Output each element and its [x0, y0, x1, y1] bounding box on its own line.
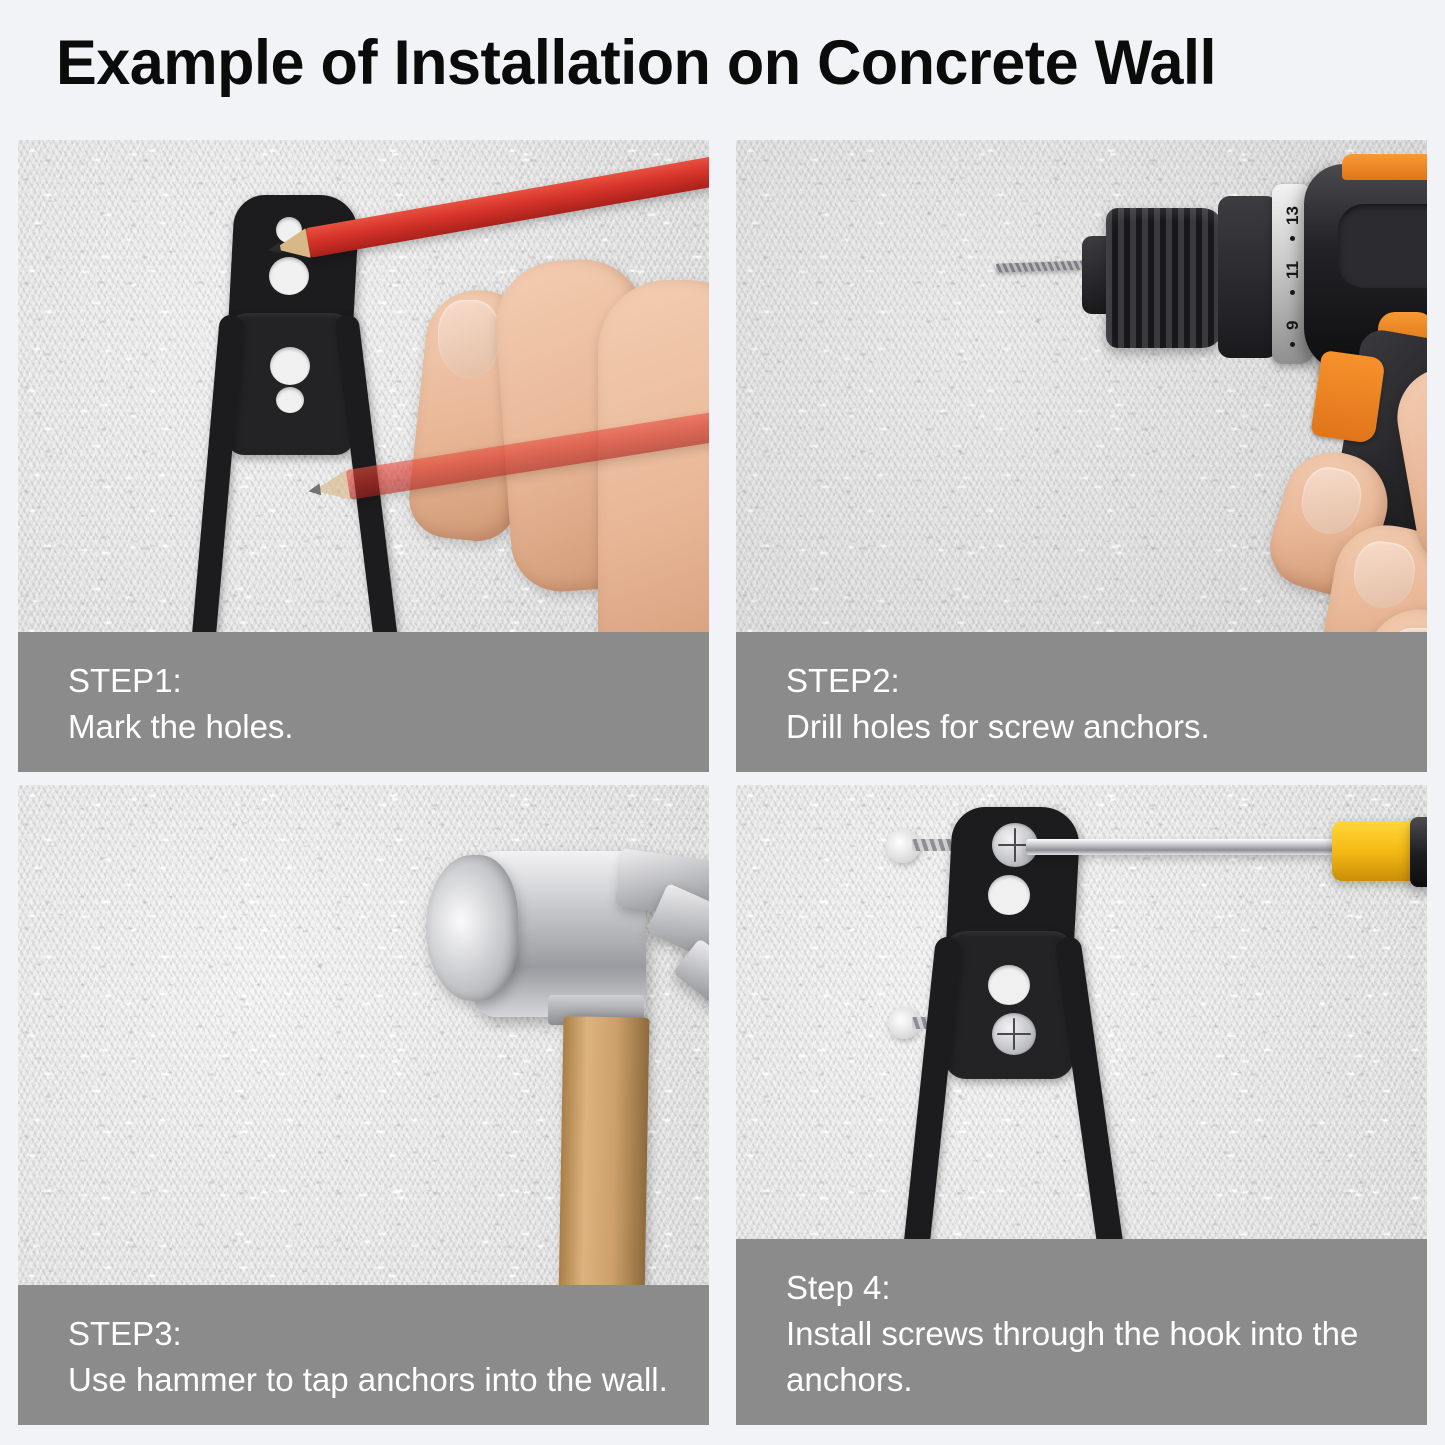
step-2-caption: STEP2: Drill holes for screw anchors. — [736, 632, 1427, 772]
screwdriver-yellow-grip — [1332, 821, 1418, 881]
installation-guide-page: Example of Installation on Concrete Wall — [0, 0, 1445, 1445]
step-1-label: STEP1: — [68, 658, 668, 704]
pencil-lead — [268, 242, 282, 256]
bracket-hole-mid — [988, 965, 1030, 1005]
hammer-face — [426, 855, 518, 1001]
screwdriver-shaft — [1026, 839, 1344, 855]
steps-grid: STEP1: Mark the holes. 13 11 9 — [18, 140, 1427, 1425]
step-panel-2: 13 11 9 — [736, 140, 1427, 772]
step-4-text: Install screws through the hook into the… — [786, 1311, 1386, 1403]
page-title: Example of Installation on Concrete Wall — [56, 28, 1375, 98]
drill-chuck — [1106, 208, 1224, 348]
step-1-text: Mark the holes. — [68, 704, 668, 750]
torque-number-13: 13 — [1283, 195, 1303, 225]
torque-number-11: 11 — [1283, 249, 1303, 279]
step-panel-3: STEP3: Use hammer to tap anchors into th… — [18, 785, 709, 1425]
step-3-label: STEP3: — [68, 1311, 668, 1357]
installed-screw-head-bottom — [992, 1013, 1036, 1055]
bracket-hole-mid — [270, 347, 310, 385]
step-1-caption: STEP1: Mark the holes. — [18, 632, 709, 772]
bracket-hole-upper — [988, 875, 1030, 915]
step-3-caption: STEP3: Use hammer to tap anchors into th… — [18, 1285, 709, 1425]
pencil-lead-ghost — [308, 483, 322, 497]
screwdriver-black-handle — [1410, 817, 1427, 887]
step-2-label: STEP2: — [786, 658, 1386, 704]
step-panel-1: STEP1: Mark the holes. — [18, 140, 709, 772]
step-4-label: Step 4: — [786, 1265, 1386, 1311]
step-4-caption: Step 4: Install screws through the hook … — [736, 1239, 1427, 1425]
bracket-hole-upper — [269, 257, 309, 295]
step-2-text: Drill holes for screw anchors. — [786, 704, 1386, 750]
step-panel-4: Step 4: Install screws through the hook … — [736, 785, 1427, 1425]
torque-number-9: 9 — [1283, 306, 1303, 330]
drill-bit — [996, 260, 1092, 272]
bracket-hole-bottom — [276, 387, 304, 413]
screwdriver — [1026, 821, 1427, 901]
step-3-text: Use hammer to tap anchors into the wall. — [68, 1357, 668, 1403]
drill-top-accent — [1342, 154, 1427, 180]
